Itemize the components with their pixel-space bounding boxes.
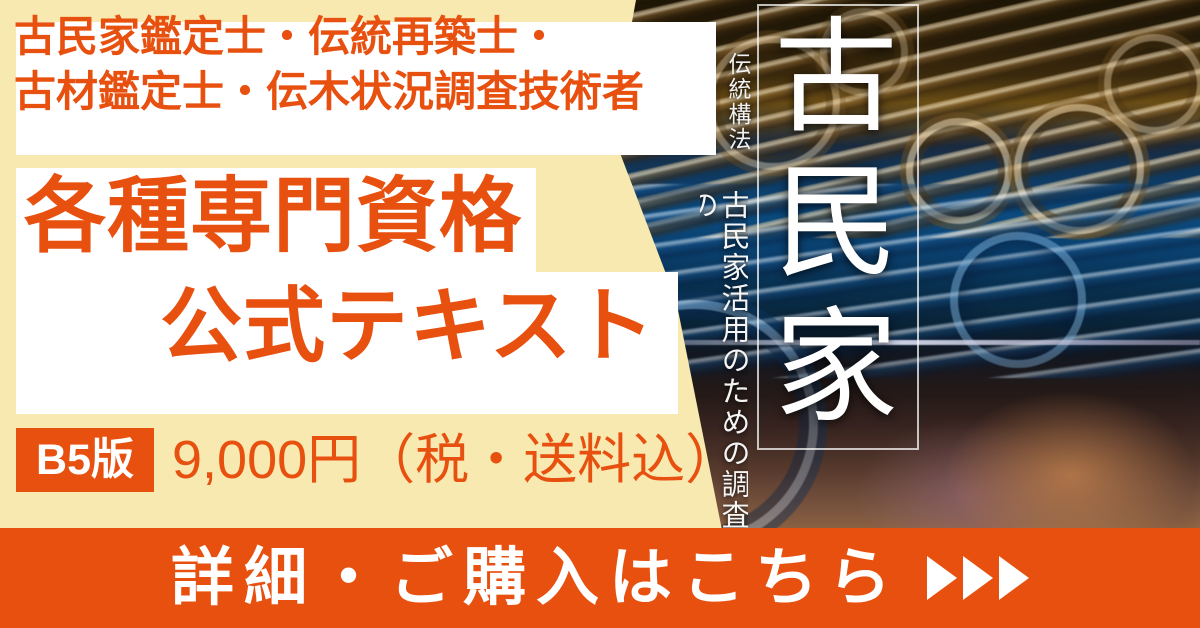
qualifications-text: 古民家鑑定士・伝統再築士・ 古材鑑定士・伝木状況調査技術者 xyxy=(14,9,644,120)
cta-inner: 詳細・ご購入はこちら xyxy=(171,547,1029,610)
wood-swirl-icon xyxy=(1104,34,1200,134)
cover-title: 古 民 家 xyxy=(760,6,912,442)
cover-title-char: 家 xyxy=(774,307,898,431)
size-badge: B5版 xyxy=(16,428,154,492)
cover-title-char: 古 xyxy=(774,17,898,141)
headline-line-2: 公式テキスト xyxy=(160,286,656,368)
triangle-right-icon xyxy=(963,556,993,600)
promo-banner: 伝統構法 古民家活用のための調査と再生の 古 民 家 古民家鑑定士・伝統再築士・… xyxy=(0,0,1200,628)
cta-arrows xyxy=(927,556,1029,600)
cover-title-char: 民 xyxy=(774,162,898,286)
price-text: 9,000円（税・送料込） xyxy=(172,430,739,490)
triangle-right-icon xyxy=(999,556,1029,600)
headline-line-1: 各種専門資格 xyxy=(24,176,522,258)
cta-bar[interactable]: 詳細・ご購入はこちら xyxy=(0,528,1200,628)
cta-label: 詳細・ご購入はこちら xyxy=(171,547,901,610)
triangle-right-icon xyxy=(927,556,957,600)
